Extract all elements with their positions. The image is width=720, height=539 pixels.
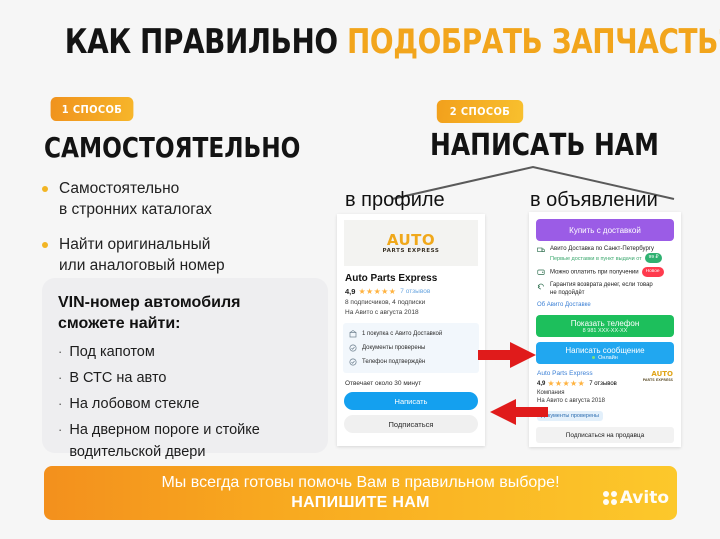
vin-location-text: На дверном пороге и стойке водительской … (69, 419, 259, 463)
check-circle-icon (349, 344, 357, 352)
seller-rating-value: 4,9 (537, 381, 545, 387)
stars-icon: ★★★★★ (358, 287, 396, 296)
seller-logo: AUTO PARTS EXPRESS (643, 371, 673, 383)
return-arrow-icon (537, 282, 545, 290)
step-1-bullet-list: Самостоятельно в стронних каталогах Найт… (42, 178, 332, 290)
delivery-subtitle: Первые доставки в пункт выдачи от (550, 255, 642, 263)
new-badge: Новое (642, 267, 664, 277)
trust-text: Телефон подтверждён (362, 359, 425, 365)
masked-phone: 8 981 XXX-XX-XX (583, 328, 628, 334)
step-2-title: НАПИСАТЬ НАМ (430, 128, 659, 163)
show-phone-button[interactable]: Показать телефон 8 981 XXX-XX-XX (536, 315, 674, 337)
reviews-link[interactable]: 7 отзывов (400, 288, 430, 295)
ad-branch-label: в объявлении (530, 189, 658, 212)
online-status-text: Онлайн (598, 355, 618, 361)
buy-with-delivery-button[interactable]: Купить с доставкой (536, 219, 674, 241)
avito-watermark: Avito (603, 488, 669, 508)
pay-on-receipt-text: Можно оплатить при получении (550, 270, 639, 276)
list-item: · На лобовом стекле (58, 393, 312, 415)
followers-count: 8 подписчиков, 4 подписки (345, 299, 485, 306)
send-message-label: Написать сообщение (565, 346, 644, 355)
stars-icon: ★★★★★ (547, 379, 585, 388)
company-logo: AUTO PARTS EXPRESS (344, 220, 478, 266)
list-item: Найти оригинальный или аналоговый номер (42, 234, 332, 276)
cta-line-1: Мы всегда готовы помочь Вам в правильном… (161, 473, 559, 493)
profile-rating-row: 4,9 ★★★★★ 7 отзывов (345, 287, 485, 296)
online-status: Онлайн (592, 355, 618, 361)
list-item: · В СТС на авто (58, 367, 312, 389)
vin-location-text: В СТС на авто (69, 367, 166, 389)
poster-canvas: КАК ПРАВИЛЬНО ПОДОБРАТЬ ЗАПЧАСТЬ? 1 СПОС… (0, 0, 720, 539)
advert-screenshot-card: Купить с доставкой Авито Доставка по Сан… (529, 212, 681, 447)
page-title: КАК ПРАВИЛЬНО ПОДОБРАТЬ ЗАПЧАСТЬ? (65, 22, 655, 62)
trust-text: Документы проверены (362, 345, 425, 351)
answer-time: Отвечает около 30 минут (345, 380, 485, 387)
seller-info-block: AUTO PARTS EXPRESS Auto Parts Express 4,… (529, 364, 681, 422)
logo-main-text: AUTO (387, 233, 435, 247)
profile-name: Auto Parts Express (345, 273, 485, 284)
seller-logo-sub: PARTS EXPRESS (643, 377, 673, 383)
profile-trust-info-box: 1 покупка с Авито Доставкой Документы пр… (343, 323, 479, 373)
money-back-guarantee: Гарантия возврата денег, если товар не п… (550, 281, 653, 297)
list-item: 1 покупка с Авито Доставкой (343, 327, 479, 341)
profile-branch-label: в профиле (345, 189, 445, 212)
wallet-icon (537, 268, 545, 276)
list-item: · На дверном пороге и стойке водительско… (58, 419, 312, 463)
subscribe-seller-button[interactable]: Подписаться на продавца (536, 427, 674, 443)
truck-icon (537, 246, 545, 254)
list-item: Документы проверены (343, 341, 479, 355)
list-item: Гарантия возврата денег, если товар не п… (529, 277, 681, 297)
vin-card-title: VIN-номер автомобиля сможете найти: (58, 292, 312, 334)
cta-banner: Мы всегда готовы помочь Вам в правильном… (44, 466, 677, 520)
step-1-title: САМОСТОЯТЕЛЬНО (44, 131, 300, 164)
bullet-dot-icon (42, 186, 48, 192)
bullet-dot-icon: · (58, 393, 62, 415)
rating-value: 4,9 (345, 287, 355, 296)
step-2-badge: 2 СПОСОБ (437, 100, 523, 123)
vin-location-text: Под капотом (69, 341, 155, 363)
cta-line-2: НАПИШИТЕ НАМ (291, 493, 429, 513)
member-since: На Авито с августа 2018 (345, 309, 485, 316)
list-item: Можно оплатить при полученииНовое (529, 263, 681, 277)
logo-sub-text: PARTS EXPRESS (383, 248, 440, 254)
headline-orange-part: ПОДОБРАТЬ ЗАПЧАСТЬ? (347, 22, 720, 62)
seller-reviews[interactable]: 7 отзывов (589, 381, 617, 387)
price-badge: 99 ₽ (645, 253, 663, 263)
delivery-info: Авито Доставка по Санкт-Петербургу Первы… (550, 245, 662, 263)
headline-black-part: КАК ПРАВИЛЬНО (65, 22, 347, 62)
list-item: Телефон подтверждён (343, 355, 479, 369)
vin-info-card: VIN-номер автомобиля сможете найти: · По… (42, 278, 328, 453)
check-circle-icon (349, 358, 357, 366)
profile-screenshot-card: AUTO PARTS EXPRESS Auto Parts Express 4,… (337, 214, 485, 446)
seller-member-since: На Авито с августа 2018 (537, 398, 673, 404)
delivery-title: Авито Доставка по Санкт-Петербургу (550, 246, 654, 252)
avito-logo-icon (603, 491, 617, 505)
online-dot-icon (592, 356, 595, 359)
show-phone-label: Показать телефон (571, 319, 640, 328)
bullet-dot-icon (42, 242, 48, 248)
step-1-badge: 1 СПОСОБ (51, 97, 134, 121)
pointer-arrow-left-icon (488, 398, 548, 426)
write-button[interactable]: Написать (344, 392, 478, 410)
bullet-text: Самостоятельно в стронних каталогах (59, 178, 212, 220)
bullet-text: Найти оригинальный или аналоговый номер (59, 234, 225, 276)
bullet-dot-icon: · (58, 367, 62, 389)
list-item: Авито Доставка по Санкт-Петербургу Первы… (529, 241, 681, 263)
pay-on-receipt-row: Можно оплатить при полученииНовое (550, 267, 664, 277)
trust-text: 1 покупка с Авито Доставкой (362, 331, 442, 337)
bullet-dot-icon: · (58, 419, 62, 441)
list-item: · Под капотом (58, 341, 312, 363)
pointer-arrow-right-icon (478, 341, 538, 369)
send-message-button[interactable]: Написать сообщение Онлайн (536, 342, 674, 364)
delivery-box-icon (349, 330, 357, 338)
subscribe-button[interactable]: Подписаться (344, 415, 478, 433)
bullet-dot-icon: · (58, 341, 62, 363)
list-item: Самостоятельно в стронних каталогах (42, 178, 332, 220)
about-delivery-link[interactable]: Об Авито Доставке (529, 297, 681, 308)
seller-type: Компания (537, 390, 673, 396)
vin-location-text: На лобовом стекле (69, 393, 199, 415)
avito-watermark-text: Avito (620, 488, 669, 508)
